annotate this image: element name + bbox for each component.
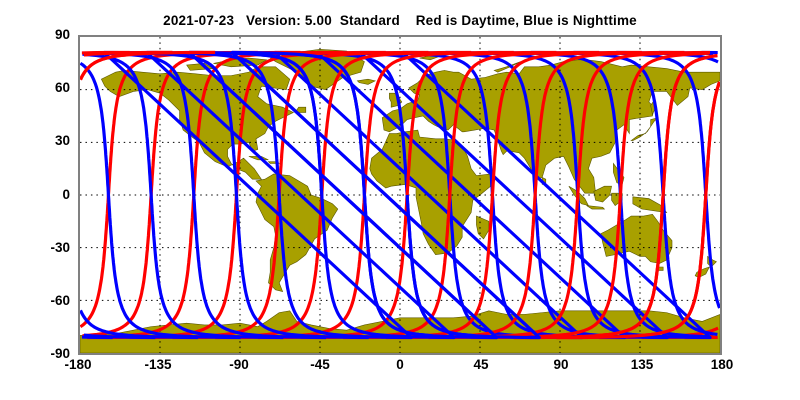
x-tick-label: 0 <box>365 357 435 372</box>
y-tick-label: -60 <box>10 293 70 308</box>
y-tick-label: 90 <box>10 27 70 42</box>
plot-canvas: 2021-07-23 Version: 5.00 Standard Red is… <box>0 0 800 400</box>
x-tick-label: 45 <box>446 357 516 372</box>
x-tick-label: 180 <box>687 357 757 372</box>
world-map-svg <box>80 37 720 353</box>
y-tick-label: 60 <box>10 80 70 95</box>
x-tick-label: -90 <box>204 357 274 372</box>
chart-title: 2021-07-23 Version: 5.00 Standard Red is… <box>0 13 800 28</box>
x-tick-label: 90 <box>526 357 596 372</box>
x-tick-label: -180 <box>43 357 113 372</box>
map-plot-area <box>78 35 722 355</box>
y-tick-label: 30 <box>10 133 70 148</box>
x-tick-label: -45 <box>285 357 355 372</box>
y-tick-label: 0 <box>10 187 70 202</box>
x-tick-label: 135 <box>607 357 677 372</box>
x-tick-label: -135 <box>123 357 193 372</box>
y-tick-label: -30 <box>10 240 70 255</box>
